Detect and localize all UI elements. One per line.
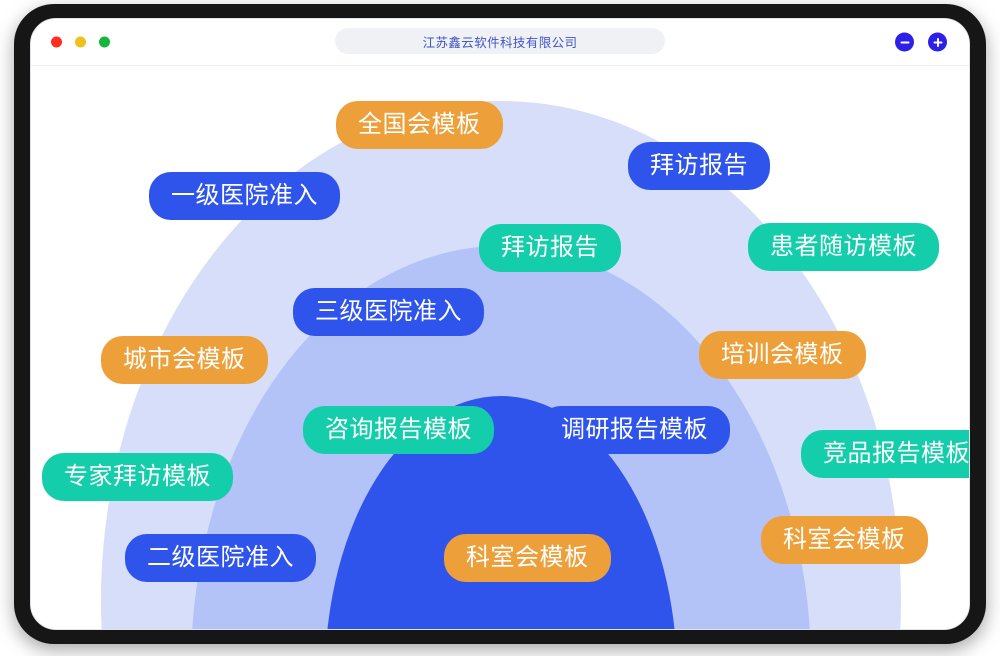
- tag-pill[interactable]: 一级医院准入: [149, 172, 340, 220]
- device-frame: 江苏鑫云软件科技有限公司 全国会模板拜访报告一级医院准入拜访报告患者随访模板三级…: [14, 4, 986, 644]
- tag-pill[interactable]: 科室会模板: [761, 516, 928, 564]
- plus-icon[interactable]: [928, 33, 947, 52]
- tag-pill[interactable]: 拜访报告: [479, 224, 621, 272]
- tag-pill[interactable]: 竞品报告模板: [801, 430, 970, 478]
- tag-pill[interactable]: 培训会模板: [699, 331, 866, 379]
- tag-pill[interactable]: 二级医院准入: [125, 534, 316, 582]
- tag-pill[interactable]: 三级医院准入: [293, 288, 484, 336]
- window-title-bar-pill: 江苏鑫云软件科技有限公司: [335, 28, 665, 54]
- traffic-light-controls: [51, 37, 110, 48]
- tag-pill[interactable]: 拜访报告: [628, 142, 770, 190]
- window-action-buttons: [895, 33, 947, 52]
- screen: 江苏鑫云软件科技有限公司 全国会模板拜访报告一级医院准入拜访报告患者随访模板三级…: [30, 18, 970, 630]
- tag-pill[interactable]: 全国会模板: [336, 101, 503, 149]
- tag-pill[interactable]: 调研报告模板: [539, 406, 730, 454]
- tag-cloud-canvas: 全国会模板拜访报告一级医院准入拜访报告患者随访模板三级医院准入培训会模板城市会模…: [31, 66, 970, 630]
- minimize-button[interactable]: [75, 37, 86, 48]
- close-button[interactable]: [51, 37, 62, 48]
- tag-pill[interactable]: 咨询报告模板: [303, 406, 494, 454]
- maximize-button[interactable]: [99, 37, 110, 48]
- tag-pill[interactable]: 科室会模板: [444, 534, 611, 582]
- title-bar: 江苏鑫云软件科技有限公司: [31, 19, 969, 66]
- tag-pill[interactable]: 患者随访模板: [748, 223, 939, 271]
- window-title: 江苏鑫云软件科技有限公司: [423, 32, 578, 51]
- tag-pill[interactable]: 专家拜访模板: [42, 453, 233, 501]
- minus-icon[interactable]: [895, 33, 914, 52]
- tag-pill[interactable]: 城市会模板: [101, 336, 268, 384]
